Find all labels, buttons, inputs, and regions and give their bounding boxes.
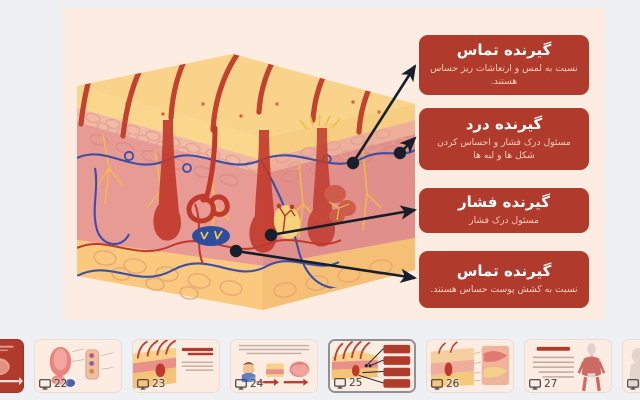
slide-screen-icon <box>431 379 443 390</box>
slide-thumbnail-26[interactable]: 26 <box>426 339 514 393</box>
thumbnail-badge: 27 <box>529 378 557 390</box>
receptor-box-pain[interactable]: گیرنده درد مسئول درک فشار و احساس کردن ش… <box>419 108 589 170</box>
thumbnail-badge: 23 <box>137 378 165 390</box>
slide-thumbnail-24[interactable]: 24 <box>230 339 318 393</box>
thumbnail-number: 23 <box>152 378 165 390</box>
slide-thumbnail-25[interactable]: 25 <box>328 339 416 393</box>
thumbnail-badge: 22 <box>39 378 67 390</box>
receptor-box-title: گیرنده فشار <box>458 193 550 212</box>
receptor-box-description: نسبت به کشش پوست حساس هستند. <box>430 283 577 296</box>
slide-screen-icon <box>529 379 541 390</box>
slide-thumbnail-27[interactable]: 27 <box>524 339 612 393</box>
slide-screen-icon <box>137 379 149 390</box>
receptor-box-description: مسئول درک فشار <box>469 214 539 227</box>
slide-screen-icon <box>334 378 346 389</box>
receptor-box-touch-vibration[interactable]: گیرنده تماس نسبت به لمس و ارتعاشات ریز ح… <box>419 35 589 95</box>
receptor-box-title: گیرنده تماس <box>457 262 552 281</box>
receptor-box-title: گیرنده درد <box>466 115 543 134</box>
thumbnail-number: 25 <box>349 377 362 389</box>
receptor-box-stretch[interactable]: گیرنده تماس نسبت به کشش پوست حساس هستند. <box>419 251 589 308</box>
thumbnail-number: 27 <box>544 378 557 390</box>
receptor-box-description: نسبت به لمس و ارتعاشات ریز حساس هستند. <box>429 62 579 89</box>
thumbnail-badge: 26 <box>431 378 459 390</box>
slide-thumbnail-strip[interactable]: 22 <box>0 332 640 400</box>
receptor-box-title: گیرنده تماس <box>457 41 552 60</box>
thumbnail-number: 24 <box>250 378 263 390</box>
receptor-box-description: مسئول درک فشار و احساس کردن شکل ها و لبه… <box>429 136 579 163</box>
thumbnail-number: 22 <box>54 378 67 390</box>
slide-thumbnail-28[interactable]: 28 <box>622 339 640 393</box>
slide-thumbnail-23[interactable]: 23 <box>132 339 220 393</box>
slide-screen-icon <box>235 379 247 390</box>
receptor-box-pressure[interactable]: گیرنده فشار مسئول درک فشار <box>419 188 589 233</box>
slide-screen-icon <box>627 379 639 390</box>
thumbnail-number: 26 <box>446 378 459 390</box>
skin-cross-section-diagram <box>63 8 423 320</box>
thumbnail-badge: 25 <box>334 377 362 389</box>
slide-canvas[interactable]: گیرنده تماس نسبت به لمس و ارتعاشات ریز ح… <box>63 8 605 320</box>
slide-thumbnail-22[interactable]: 22 <box>34 339 122 393</box>
thumbnail-badge: 28 <box>627 378 640 390</box>
presentation-viewer: گیرنده تماس نسبت به لمس و ارتعاشات ریز ح… <box>0 0 640 400</box>
thumbnail-badge: 24 <box>235 378 263 390</box>
slide-screen-icon <box>39 379 51 390</box>
slide-thumbnail-21[interactable] <box>0 339 24 393</box>
